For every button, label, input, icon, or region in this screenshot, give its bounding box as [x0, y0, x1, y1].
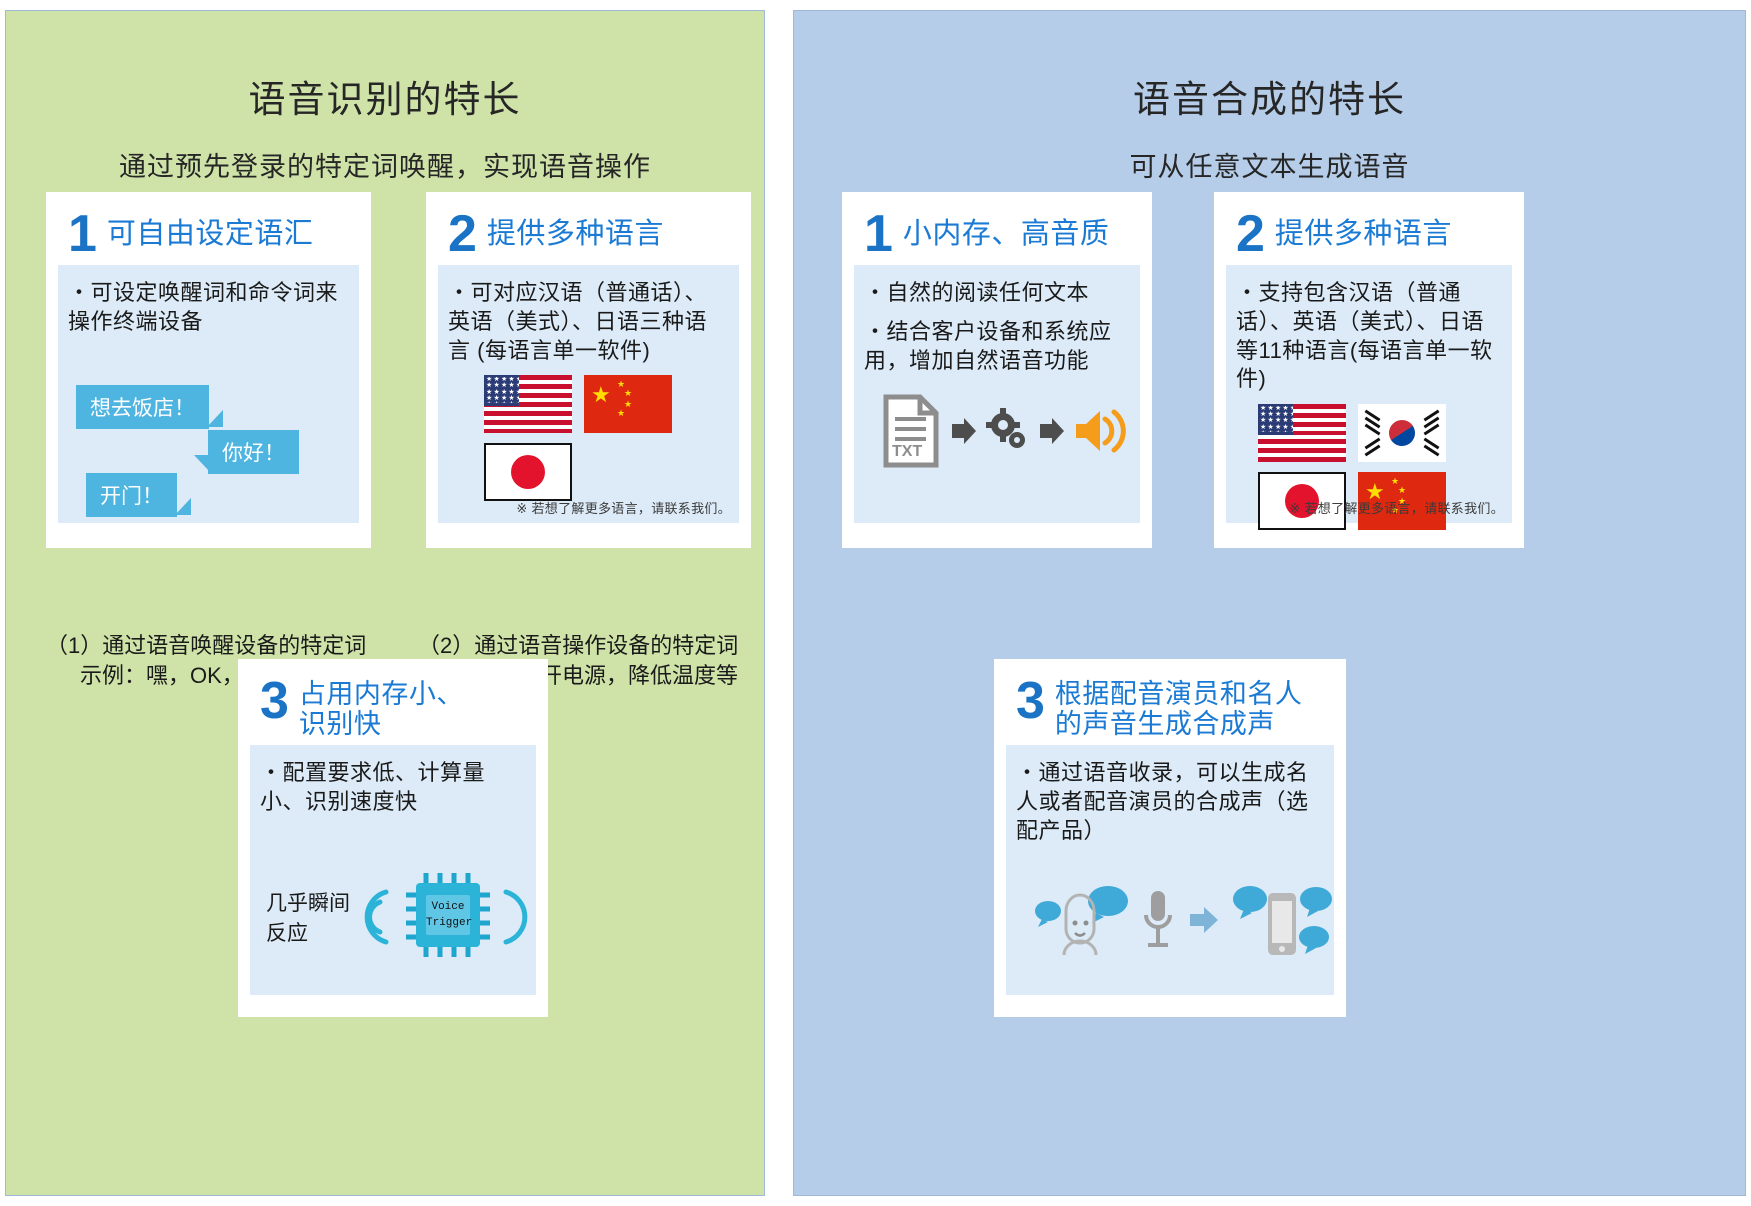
right-card-2-header: 2 提供多种语言 [1226, 202, 1512, 265]
right-card-1-body: ・自然的阅读任何文本 ・结合客户设备和系统应用，增加自然语音功能 TXT [854, 265, 1140, 523]
card-bullet-1: ・自然的阅读任何文本 [864, 279, 1130, 308]
left-card-1-body: ・可设定唤醒词和命令词来操作终端设备 想去饭店！ 你好！ 开门！ [58, 265, 359, 523]
card-number: 3 [260, 677, 289, 726]
left-card-1[interactable]: 1 可自由设定语汇 ・可设定唤醒词和命令词来操作终端设备 想去饭店！ 你好！ 开… [46, 192, 371, 548]
card-bullet: ・通过语音收录，可以生成名人或者配音演员的合成声（选配产品） [1016, 759, 1324, 845]
us-flag: ★★★★★★★★★★★★★★★★★★★★★★★★★★★★ [484, 375, 572, 433]
card-bullet: ・可设定唤醒词和命令词来操作终端设备 [68, 279, 349, 336]
txt-document-icon: TXT [880, 393, 942, 474]
right-panel-title: 语音合成的特长 [794, 69, 1745, 123]
right-card-2[interactable]: 2 提供多种语言 ・支持包含汉语（普通话）、英语（美式）、日语等11种语言(每语… [1214, 192, 1524, 548]
right-card-3-body: ・通过语音收录，可以生成名人或者配音演员的合成声（选配产品） [1006, 745, 1334, 995]
left-card-2[interactable]: 2 提供多种语言 ・可对应汉语（普通话）、英语（美式）、日语三种语言 (每语言单… [426, 192, 751, 548]
left-card-3[interactable]: 3 占用内存小、 识别快 ・配置要求低、计算量小、识别速度快 几乎瞬间反应 [238, 659, 548, 1017]
card-number: 2 [1236, 210, 1265, 259]
right-panel-subtitle: 可从任意文本生成语音 [794, 145, 1745, 184]
right-card-3-header: 3 根据配音演员和名人 的声音生成合成声 [1006, 669, 1334, 745]
microphone-icon [1140, 887, 1176, 958]
card-number: 1 [864, 210, 893, 259]
flag-row-top: ★★★★★★★★★★★★★★★★★★★★★★★★★★★★ ★ ★ ★ ★ ★ [448, 375, 729, 433]
chip-label: Voice Trigger [426, 899, 470, 932]
right-card-2-body: ・支持包含汉语（普通话）、英语（美式）、日语等11种语言(每语言单一软件) ★★… [1226, 265, 1512, 523]
speech-bubble-3: 开门！ [86, 473, 177, 517]
card-title: 提供多种语言 [1275, 210, 1452, 250]
jp-flag [484, 443, 572, 501]
caption-1-line1: 通过语音唤醒设备的特定词 [102, 633, 366, 658]
language-note: ※ 若想了解更多语言，请联系我们。 [516, 498, 731, 517]
card-bullet: ・支持包含汉语（普通话）、英语（美式）、日语等11种语言(每语言单一软件) [1236, 279, 1502, 393]
left-panel: 语音识别的特长 通过预先登录的特定词唤醒，实现语音操作 1 可自由设定语汇 ・可… [5, 10, 765, 1196]
card-title: 提供多种语言 [487, 210, 664, 250]
card-title-line1: 占用内存小、 [299, 679, 464, 709]
card-title: 根据配音演员和名人 的声音生成合成声 [1055, 677, 1303, 739]
voice-trigger-chip-icon: Voice Trigger [402, 869, 494, 966]
card-number: 1 [68, 210, 97, 259]
card-title: 可自由设定语汇 [107, 210, 314, 250]
us-flag: ★★★★★★★★★★★★★★★★★★★★★★★★★★★★ [1258, 404, 1346, 462]
card-number: 2 [448, 210, 477, 259]
slide-canvas: 语音识别的特长 通过预先登录的特定词唤醒，实现语音操作 1 可自由设定语汇 ・可… [0, 0, 1751, 1206]
caption-2-line1: 通过语音操作设备的特定词 [474, 633, 738, 658]
chip-illustration: 几乎瞬间反应 [260, 869, 532, 966]
arrow-right-icon-1 [948, 416, 978, 451]
right-card-1[interactable]: 1 小内存、高音质 ・自然的阅读任何文本 ・结合客户设备和系统应用，增加自然语音… [842, 192, 1152, 548]
right-panel: 语音合成的特长 可从任意文本生成语音 1 小内存、高音质 ・自然的阅读任何文本 … [793, 10, 1746, 1196]
chip-label-line2: Trigger [426, 917, 472, 929]
card-title: 小内存、高音质 [903, 210, 1110, 250]
voice-recording-illustration [1016, 877, 1342, 968]
card-bullet-2: ・结合客户设备和系统应用，增加自然语音功能 [864, 318, 1130, 375]
flag-row-bottom [448, 443, 729, 501]
txt-label: TXT [892, 443, 922, 461]
arrow-right-icon-2 [1036, 416, 1066, 451]
chip-label-line1: Voice [431, 901, 464, 913]
smartphone-with-bubbles-icon [1230, 877, 1334, 968]
instant-response-label: 几乎瞬间反应 [266, 887, 352, 947]
wifi-wave-icon [360, 882, 394, 952]
card-title: 占用内存小、 识别快 [299, 677, 464, 739]
left-panel-title: 语音识别的特长 [6, 69, 764, 123]
card-number: 3 [1016, 677, 1045, 726]
card-bullet: ・配置要求低、计算量小、识别速度快 [260, 759, 526, 816]
card-title-line2: 识别快 [299, 709, 382, 739]
left-card-2-body: ・可对应汉语（普通话）、英语（美式）、日语三种语言 (每语言单一软件) ★★★★… [438, 265, 739, 523]
person-speaking-icon [1034, 881, 1130, 964]
wifi-wave-icon-right [502, 882, 532, 952]
arrow-right-icon [1186, 905, 1220, 940]
left-card-3-body: ・配置要求低、计算量小、识别速度快 几乎瞬间反应 [250, 745, 536, 995]
cn-flag: ★ ★ ★ ★ ★ [584, 375, 672, 433]
left-panel-subtitle: 通过预先登录的特定词唤醒，实现语音操作 [6, 145, 764, 184]
left-card-2-header: 2 提供多种语言 [438, 202, 739, 265]
speech-bubble-1: 想去饭店！ [76, 385, 209, 429]
left-card-3-header: 3 占用内存小、 识别快 [250, 669, 536, 745]
language-note: ※ 若想了解更多语言，请联系我们。 [1289, 498, 1504, 517]
caption-1-index: （1） [46, 633, 102, 658]
flag-row-top: ★★★★★★★★★★★★★★★★★★★★★★★★★★★★ [1236, 404, 1502, 462]
tts-flow-illustration: TXT [864, 393, 1146, 474]
right-card-1-header: 1 小内存、高音质 [854, 202, 1140, 265]
right-card-3[interactable]: 3 根据配音演员和名人 的声音生成合成声 ・通过语音收录，可以生成名人或者配音演… [994, 659, 1346, 1017]
kr-flag [1358, 404, 1446, 462]
card-title-line2: 的声音生成合成声 [1055, 709, 1275, 739]
card-bullet: ・可对应汉语（普通话）、英语（美式）、日语三种语言 (每语言单一软件) [448, 279, 729, 365]
card-title-line1: 根据配音演员和名人 [1055, 679, 1303, 709]
caption-2-index: （2） [418, 633, 474, 658]
speaker-icon [1072, 407, 1130, 460]
left-card-1-header: 1 可自由设定语汇 [58, 202, 359, 265]
speech-bubble-2: 你好！ [208, 430, 299, 474]
gears-icon [984, 408, 1030, 459]
